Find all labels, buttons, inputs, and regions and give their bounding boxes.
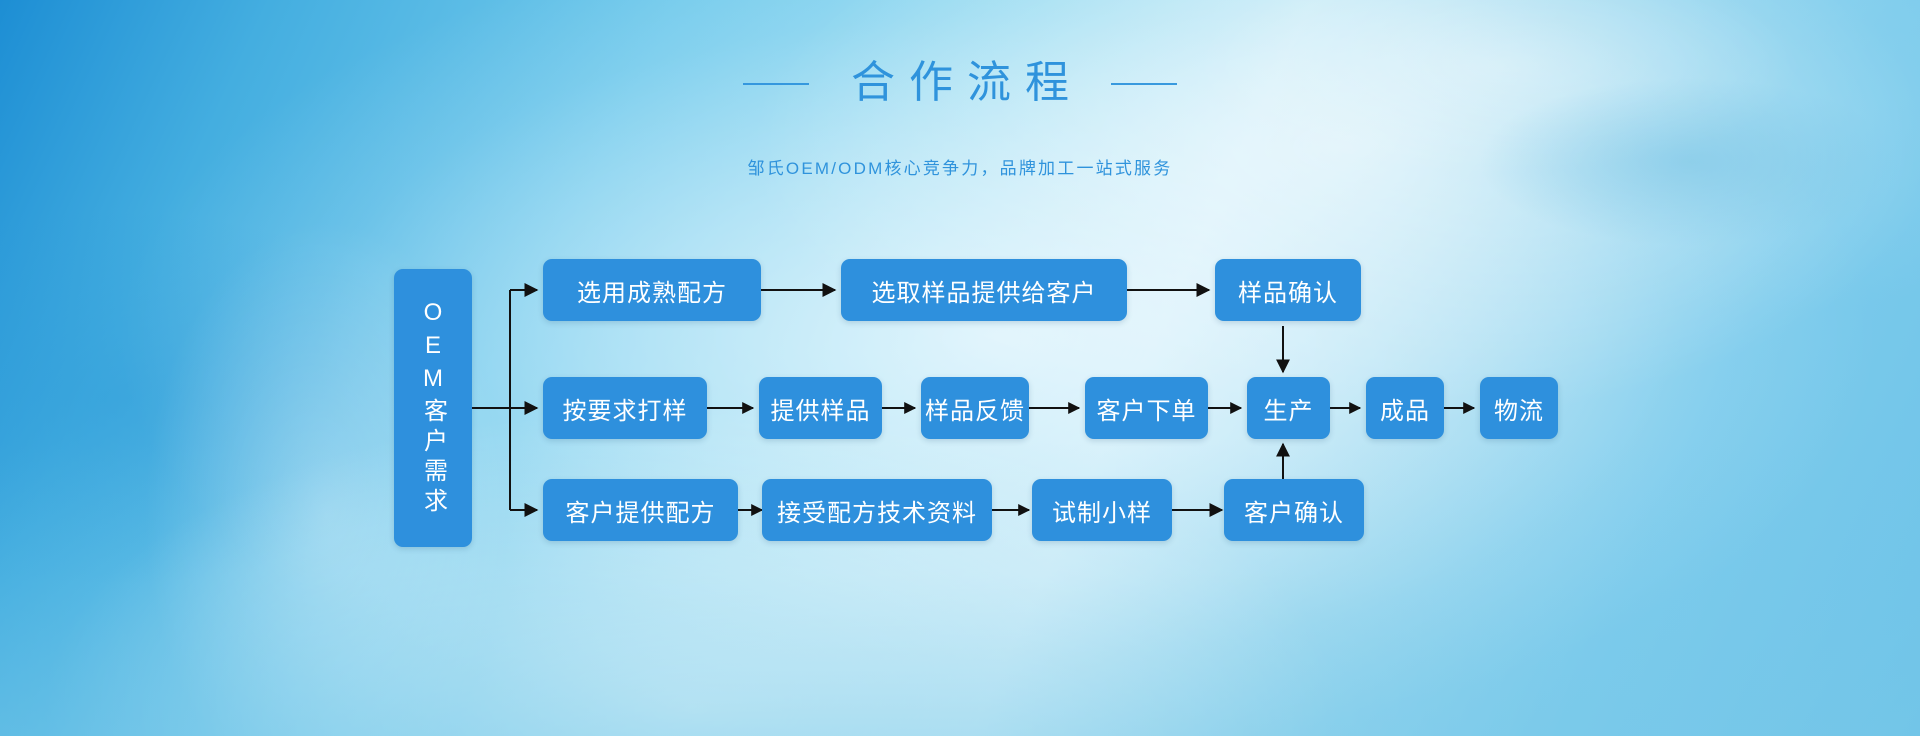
title-rule-right-icon (1111, 83, 1177, 85)
page-title: 合作流程 (837, 57, 1083, 110)
flow-node-sample-confirmation[interactable]: 样品确认 (1215, 259, 1361, 321)
page-root: 合作流程 邹氏OEM/ODM核心竞争力，品牌加工一站式服务 (0, 0, 1920, 736)
flow-node-sample-feedback[interactable]: 样品反馈 (921, 377, 1029, 439)
title-row: 合作流程 (0, 28, 1920, 140)
flow-node-select-mature-formula[interactable]: 选用成熟配方 (543, 259, 761, 321)
flow-node-finished-goods[interactable]: 成品 (1366, 377, 1444, 439)
flow-node-receive-formula-docs[interactable]: 接受配方技术资料 (762, 479, 992, 541)
flow-node-provide-sample[interactable]: 提供样品 (759, 377, 882, 439)
flow-node-client-order[interactable]: 客户下单 (1085, 377, 1208, 439)
title-rule-left-icon (743, 83, 809, 85)
flow-node-sample-on-request[interactable]: 按要求打样 (543, 377, 707, 439)
flow-node-logistics[interactable]: 物流 (1480, 377, 1558, 439)
flow-node-provide-sample-to-client[interactable]: 选取样品提供给客户 (841, 259, 1127, 321)
flow-node-production[interactable]: 生产 (1247, 377, 1330, 439)
flow-node-start[interactable]: OEM客户需求 (394, 269, 472, 547)
flow-node-client-confirmation[interactable]: 客户确认 (1224, 479, 1364, 541)
flow-node-client-provides-formula[interactable]: 客户提供配方 (543, 479, 738, 541)
page-subtitle: 邹氏OEM/ODM核心竞争力，品牌加工一站式服务 (0, 154, 1920, 179)
page-header: 合作流程 邹氏OEM/ODM核心竞争力，品牌加工一站式服务 (0, 0, 1920, 179)
flow-node-trial-sample[interactable]: 试制小样 (1032, 479, 1172, 541)
